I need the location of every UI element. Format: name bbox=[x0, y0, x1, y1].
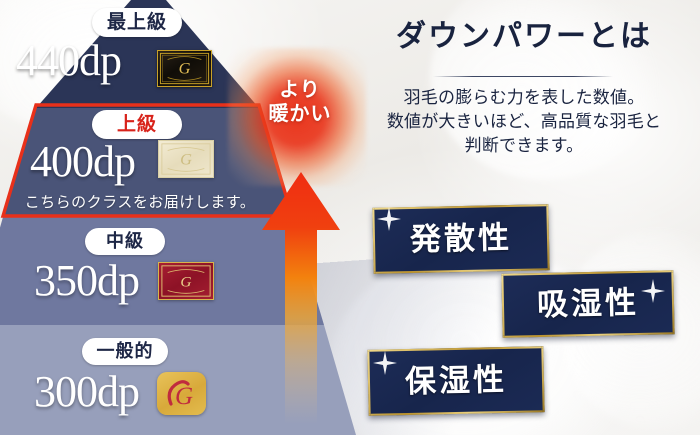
delivery-note: こちらのクラスをお届けします。 bbox=[12, 191, 268, 212]
feature-plate-moisture-absorption-label: 吸湿性 bbox=[537, 287, 640, 320]
warmth-caption-line1: より bbox=[248, 78, 352, 102]
tier-label-premium-text: 最上級 bbox=[107, 13, 167, 32]
svg-text:G: G bbox=[180, 274, 191, 291]
description-line-1: 羽毛の膨らむ力を表した数値。 bbox=[352, 86, 696, 110]
svg-text:G: G bbox=[179, 60, 191, 78]
feature-plate-moisture-absorption: 吸湿性 bbox=[501, 270, 674, 338]
description-line-3: 判断できます。 bbox=[352, 134, 696, 158]
tier-label-middle-text: 中級 bbox=[106, 233, 144, 251]
svg-text:G: G bbox=[180, 151, 192, 169]
downpower-infographic: 最上級 440dp G 上級 400dp G こちらのクラスをお届けします。 bbox=[0, 0, 700, 435]
description-text: 羽毛の膨らむ力を表した数値。 数値が大きいほど、高品質な羽毛と 判断できます。 bbox=[352, 86, 696, 158]
upward-arrow-icon bbox=[262, 172, 340, 424]
ivory-card-badge: G bbox=[158, 140, 214, 178]
crimson-card-badge: G bbox=[158, 262, 214, 300]
tier-value-general: 300dp bbox=[34, 370, 139, 414]
tier-label-superior: 上級 bbox=[92, 110, 182, 139]
feature-plate-dissipation: 発散性 bbox=[372, 204, 549, 274]
tier-label-superior-text: 上級 bbox=[117, 115, 157, 134]
tier-label-general-text: 一般的 bbox=[97, 343, 154, 361]
description-line-2: 数値が大きいほど、高品質な羽毛と bbox=[352, 110, 696, 134]
tier-label-general: 一般的 bbox=[82, 338, 168, 365]
svg-text:G: G bbox=[175, 383, 193, 410]
page-title: ダウンパワーとは bbox=[352, 22, 696, 52]
tier-label-middle: 中級 bbox=[85, 228, 165, 255]
tier-label-premium: 最上級 bbox=[92, 8, 182, 37]
feature-plate-dissipation-label: 発散性 bbox=[410, 222, 513, 255]
gold-black-card-badge: G bbox=[157, 50, 212, 87]
gold-round-badge: G bbox=[157, 372, 206, 415]
feature-plate-moisture-retention-label: 保湿性 bbox=[405, 364, 508, 397]
tier-value-premium: 440dp bbox=[16, 39, 121, 83]
title-divider bbox=[433, 76, 613, 77]
warmth-caption: より 暖かい bbox=[248, 78, 352, 125]
warmth-caption-line2: 暖かい bbox=[248, 102, 352, 126]
feature-plate-moisture-retention: 保湿性 bbox=[367, 346, 544, 416]
tier-value-middle: 350dp bbox=[34, 259, 139, 303]
tier-value-superior: 400dp bbox=[30, 140, 135, 184]
